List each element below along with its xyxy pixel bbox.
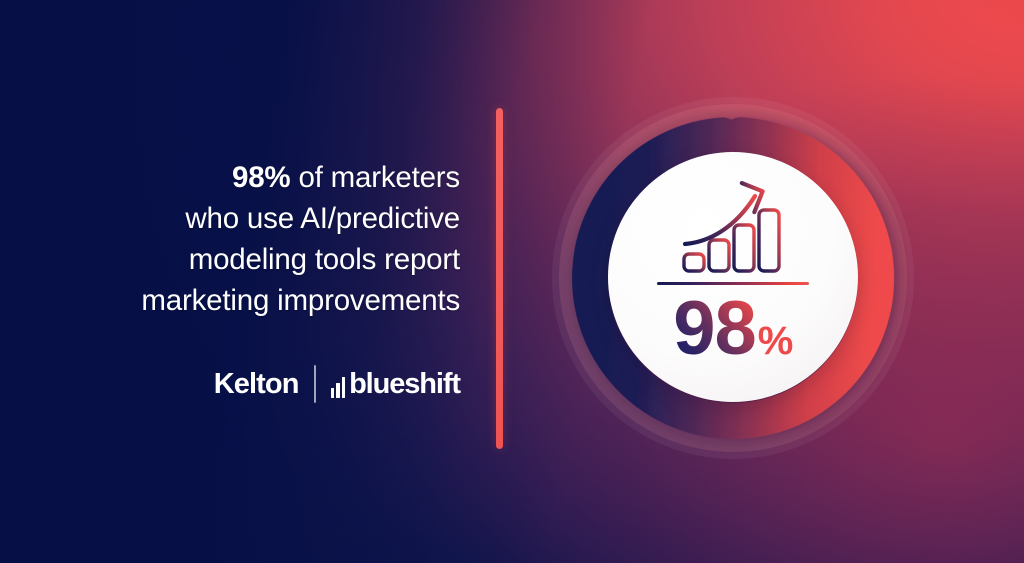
blueshift-wordmark: blueshift — [349, 370, 460, 399]
stat-donut-dial: 98 % — [545, 90, 921, 466]
headline-line-3: modeling tools report — [40, 239, 460, 280]
headline-text: 98% of marketers who use AI/predictive m… — [40, 157, 460, 321]
headline-line-1-rest: of marketers — [290, 161, 460, 194]
kelton-wordmark: Kelton — [214, 370, 299, 399]
stat-number: 98 — [673, 291, 756, 367]
blueshift-bars-mark-icon — [331, 376, 346, 399]
logo-lockup: Kelton blueshift — [40, 365, 460, 403]
headline-line-4: marketing improvements — [40, 280, 460, 321]
headline-line-1: 98% of marketers — [40, 157, 460, 198]
stat-value: 98 % — [673, 291, 793, 367]
stat-unit: % — [758, 321, 793, 361]
vertical-accent-rule — [496, 108, 503, 449]
stat-divider-line — [657, 282, 809, 285]
blueshift-logo: blueshift — [331, 370, 460, 399]
logo-divider — [314, 365, 316, 403]
dial-inner-disc: 98 % — [608, 152, 858, 402]
headline-line-2: who use AI/predictive — [40, 198, 460, 239]
growth-bar-chart-arrow-icon — [679, 178, 787, 274]
headline-lead-stat: 98% — [232, 161, 290, 194]
infographic-canvas: 98% of marketers who use AI/predictive m… — [0, 0, 1024, 563]
